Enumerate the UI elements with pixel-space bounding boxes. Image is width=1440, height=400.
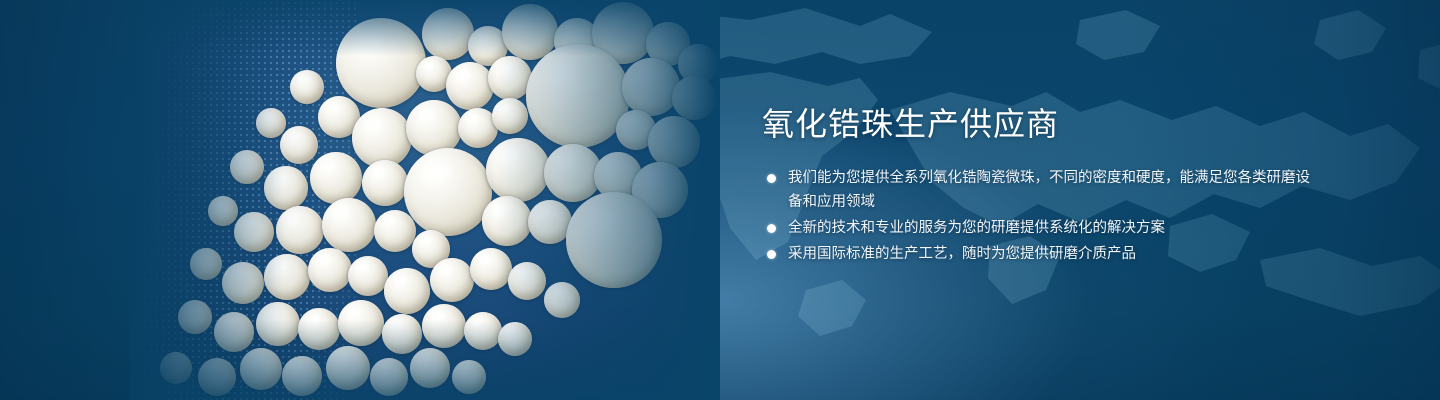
feature-text: 采用国际标准的生产工艺，随时为您提供研磨介质产品: [788, 242, 1322, 266]
feature-text: 我们能为您提供全系列氧化锆陶瓷微珠，不同的密度和硬度，能满足您各类研磨设备和应用…: [788, 166, 1322, 214]
banner-title: 氧化锆珠生产供应商: [762, 104, 1322, 144]
feature-list-item: 我们能为您提供全系列氧化锆陶瓷微珠，不同的密度和硬度，能满足您各类研磨设备和应用…: [762, 166, 1322, 214]
feature-list-item: 全新的技术和专业的服务为您的研磨提供系统化的解决方案: [762, 216, 1322, 240]
feature-list: 我们能为您提供全系列氧化锆陶瓷微珠，不同的密度和硬度，能满足您各类研磨设备和应用…: [762, 166, 1322, 266]
banner-text-block: 氧化锆珠生产供应商 我们能为您提供全系列氧化锆陶瓷微珠，不同的密度和硬度，能满足…: [762, 104, 1322, 266]
hero-banner: 氧化锆珠生产供应商 我们能为您提供全系列氧化锆陶瓷微珠，不同的密度和硬度，能满足…: [0, 0, 1440, 400]
feature-text: 全新的技术和专业的服务为您的研磨提供系统化的解决方案: [788, 216, 1322, 240]
bullet-dot-icon: [767, 250, 776, 259]
bullet-dot-icon: [767, 174, 776, 183]
feature-list-item: 采用国际标准的生产工艺，随时为您提供研磨介质产品: [762, 242, 1322, 266]
bullet-dot-icon: [767, 224, 776, 233]
